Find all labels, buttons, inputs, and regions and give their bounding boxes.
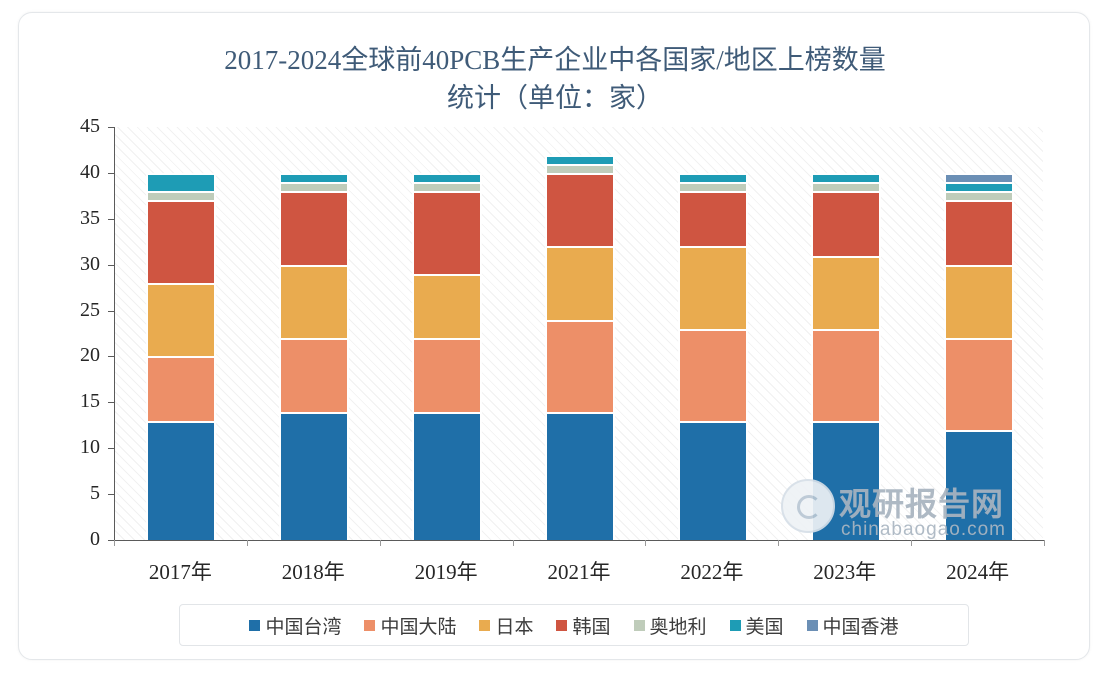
legend-swatch-icon bbox=[730, 620, 741, 631]
stacked-bar[interactable] bbox=[679, 128, 747, 541]
bar-segment[interactable] bbox=[546, 321, 614, 413]
y-tick-mark bbox=[108, 494, 114, 495]
legend-label: 韩国 bbox=[572, 612, 610, 639]
stacked-bar[interactable] bbox=[945, 128, 1013, 541]
legend-swatch-icon bbox=[479, 620, 490, 631]
bar-segment[interactable] bbox=[280, 192, 348, 265]
bar-segment[interactable] bbox=[945, 431, 1013, 541]
legend-label: 中国香港 bbox=[823, 612, 899, 639]
x-tick-mark bbox=[247, 540, 248, 546]
x-tick-label: 2023年 bbox=[780, 556, 910, 586]
y-tick-mark bbox=[108, 265, 114, 266]
bars-container bbox=[115, 127, 1043, 541]
legend-label: 美国 bbox=[746, 612, 784, 639]
y-tick-mark bbox=[108, 127, 114, 128]
bar-segment[interactable] bbox=[546, 174, 614, 247]
bar-segment[interactable] bbox=[679, 247, 747, 330]
bar-segment[interactable] bbox=[812, 174, 880, 183]
y-tick-label: 15 bbox=[60, 390, 100, 413]
bar-segment[interactable] bbox=[812, 192, 880, 256]
bar-segment[interactable] bbox=[812, 183, 880, 192]
bar-segment[interactable] bbox=[147, 357, 215, 421]
y-tick-label: 35 bbox=[60, 207, 100, 230]
x-tick-label: 2018年 bbox=[248, 556, 378, 586]
stacked-bar[interactable] bbox=[147, 128, 215, 541]
bar-segment[interactable] bbox=[546, 165, 614, 174]
legend-swatch-icon bbox=[556, 620, 567, 631]
x-tick-mark bbox=[380, 540, 381, 546]
bar-segment[interactable] bbox=[280, 174, 348, 183]
legend-swatch-icon bbox=[807, 620, 818, 631]
x-tick-mark bbox=[911, 540, 912, 546]
bar-segment[interactable] bbox=[546, 156, 614, 165]
bar-segment[interactable] bbox=[413, 413, 481, 541]
bar-segment[interactable] bbox=[945, 183, 1013, 192]
x-tick-mark bbox=[645, 540, 646, 546]
chart-card: 2017-2024全球前40PCB生产企业中各国家/地区上榜数量 统计（单位：家… bbox=[18, 12, 1090, 660]
bar-segment[interactable] bbox=[280, 339, 348, 412]
x-tick-label: 2021年 bbox=[514, 556, 644, 586]
y-tick-label: 40 bbox=[60, 161, 100, 184]
y-tick-label: 10 bbox=[60, 436, 100, 459]
y-tick-label: 20 bbox=[60, 344, 100, 367]
bar-segment[interactable] bbox=[413, 275, 481, 339]
y-tick-label: 5 bbox=[60, 482, 100, 505]
legend-item[interactable]: 奥地利 bbox=[634, 612, 707, 639]
bar-segment[interactable] bbox=[945, 339, 1013, 431]
bar-segment[interactable] bbox=[147, 422, 215, 541]
bar-segment[interactable] bbox=[413, 339, 481, 412]
legend-swatch-icon bbox=[634, 620, 645, 631]
y-tick-mark bbox=[108, 219, 114, 220]
legend-label: 中国台湾 bbox=[265, 612, 341, 639]
bar-segment[interactable] bbox=[679, 422, 747, 541]
x-tick-label: 2019年 bbox=[381, 556, 511, 586]
bar-segment[interactable] bbox=[413, 174, 481, 183]
y-axis-line bbox=[114, 127, 115, 541]
legend-item[interactable]: 日本 bbox=[479, 612, 533, 639]
x-tick-mark bbox=[778, 540, 779, 546]
bar-segment[interactable] bbox=[280, 183, 348, 192]
y-tick-mark bbox=[108, 448, 114, 449]
bar-segment[interactable] bbox=[945, 174, 1013, 183]
y-tick-label: 45 bbox=[60, 115, 100, 138]
x-tick-mark bbox=[114, 540, 115, 546]
bar-segment[interactable] bbox=[546, 247, 614, 320]
bar-segment[interactable] bbox=[812, 422, 880, 541]
legend-label: 奥地利 bbox=[650, 612, 707, 639]
y-tick-mark bbox=[108, 402, 114, 403]
x-tick-mark bbox=[513, 540, 514, 546]
bar-segment[interactable] bbox=[147, 201, 215, 284]
bar-segment[interactable] bbox=[679, 192, 747, 247]
bar-segment[interactable] bbox=[280, 413, 348, 541]
y-tick-mark bbox=[108, 311, 114, 312]
bar-segment[interactable] bbox=[147, 174, 215, 192]
bar-segment[interactable] bbox=[945, 266, 1013, 339]
legend-label: 中国大陆 bbox=[380, 612, 456, 639]
legend-item[interactable]: 韩国 bbox=[556, 612, 610, 639]
bar-segment[interactable] bbox=[280, 266, 348, 339]
stacked-bar[interactable] bbox=[413, 128, 481, 541]
x-tick-mark bbox=[1044, 540, 1045, 546]
y-tick-label: 0 bbox=[60, 528, 100, 551]
x-tick-label: 2024年 bbox=[913, 556, 1043, 586]
legend-swatch-icon bbox=[364, 620, 375, 631]
bar-segment[interactable] bbox=[812, 330, 880, 422]
chart-legend[interactable]: 中国台湾中国大陆日本韩国奥地利美国中国香港 bbox=[179, 604, 969, 646]
bar-segment[interactable] bbox=[413, 192, 481, 275]
bar-segment[interactable] bbox=[945, 201, 1013, 265]
y-tick-label: 30 bbox=[60, 253, 100, 276]
bar-segment[interactable] bbox=[546, 413, 614, 541]
legend-item[interactable]: 中国香港 bbox=[807, 612, 899, 639]
bar-segment[interactable] bbox=[147, 192, 215, 201]
chart-title: 2017-2024全球前40PCB生产企业中各国家/地区上榜数量 统计（单位：家… bbox=[79, 41, 1031, 117]
y-axis-labels: 051015202530354045 bbox=[52, 127, 100, 541]
x-tick-label: 2022年 bbox=[647, 556, 777, 586]
x-axis-line bbox=[114, 540, 1044, 541]
legend-label: 日本 bbox=[495, 612, 533, 639]
bar-segment[interactable] bbox=[679, 174, 747, 183]
bar-segment[interactable] bbox=[413, 183, 481, 192]
y-tick-mark bbox=[108, 356, 114, 357]
bar-segment[interactable] bbox=[679, 183, 747, 192]
bar-segment[interactable] bbox=[679, 330, 747, 422]
legend-item[interactable]: 中国大陆 bbox=[364, 612, 456, 639]
plot-area bbox=[115, 127, 1043, 541]
y-tick-mark bbox=[108, 173, 114, 174]
legend-swatch-icon bbox=[249, 620, 260, 631]
bar-segment[interactable] bbox=[147, 284, 215, 357]
x-tick-label: 2017年 bbox=[115, 556, 245, 586]
bar-segment[interactable] bbox=[945, 192, 1013, 201]
legend-item[interactable]: 中国台湾 bbox=[249, 612, 341, 639]
y-tick-label: 25 bbox=[60, 299, 100, 322]
stacked-bar[interactable] bbox=[812, 128, 880, 541]
bar-segment[interactable] bbox=[812, 257, 880, 330]
chart-page: 2017-2024全球前40PCB生产企业中各国家/地区上榜数量 统计（单位：家… bbox=[0, 0, 1108, 678]
stacked-bar[interactable] bbox=[546, 128, 614, 541]
legend-item[interactable]: 美国 bbox=[730, 612, 784, 639]
stacked-bar[interactable] bbox=[280, 128, 348, 541]
